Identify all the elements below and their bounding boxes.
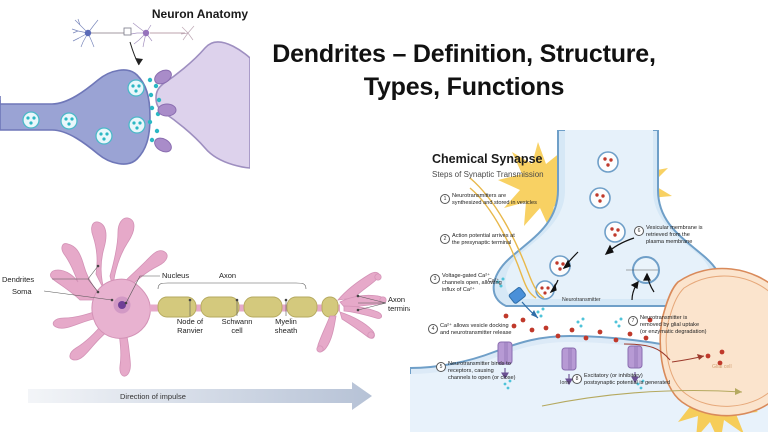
label-direction-of-impulse: Direction of impulse <box>120 392 186 401</box>
neuron-anatomy-svg <box>0 0 410 432</box>
step-text-8: Excitatory (or inhibitory) postsynaptic … <box>584 373 670 387</box>
label-neurotransmitter: Neurotransmitter <box>562 297 601 303</box>
label-soma: Soma <box>12 287 32 296</box>
step-text-4: Ca²⁺ allows vesicle docking and neurotra… <box>440 323 512 337</box>
label-myelin-sheath: Myelin sheath <box>268 317 304 335</box>
step-number-8: 8 <box>572 374 582 384</box>
label-schwann-cell: Schwann cell <box>219 317 255 335</box>
neuron-nucleus <box>118 301 126 309</box>
direction-of-impulse-arrow <box>28 382 372 410</box>
label-nucleus: Nucleus <box>162 271 189 280</box>
label-node-of-ranvier: Node of Ranvier <box>172 317 208 335</box>
step-text-5: Neurotransmitter binds to receptors, cau… <box>448 361 515 383</box>
glial-cell <box>660 269 768 416</box>
step-text-6: Vesicular membrane is retrieved from the… <box>646 225 703 247</box>
step-text-1: Neurotransmitters are synthesized and st… <box>452 193 537 207</box>
chemical-synapse-subtitle: Steps of Synaptic Transmission <box>432 170 544 179</box>
step-number-7: 7 <box>628 316 638 326</box>
step-number-2: 2 <box>440 234 450 244</box>
step-number-5: 5 <box>436 362 446 372</box>
label-glial-cell: Glial cell <box>712 364 732 370</box>
step-number-4: 4 <box>428 324 438 334</box>
step-text-7: Neurotransmitter is removed by glial upt… <box>640 315 707 337</box>
label-dendrites: Dendrites <box>2 275 34 284</box>
step-number-1: 1 <box>440 194 450 204</box>
cleft-ions <box>577 318 623 328</box>
label-calcium: Ca²⁺ <box>488 278 499 284</box>
label-axon: Axon <box>219 271 236 280</box>
myelin-sheath-segments <box>158 297 338 317</box>
step-text-2: Action potential arrives at the presynap… <box>452 233 515 247</box>
step-number-3: 3 <box>430 274 440 284</box>
chemical-synapse-panel: Chemical Synapse Steps of Synaptic Trans… <box>410 130 768 432</box>
screenshot-canvas: Dendrites – Definition, Structure, Types… <box>0 0 768 432</box>
step-number-6: 6 <box>634 226 644 236</box>
label-ions: Ions <box>560 380 570 386</box>
chemical-synapse-title: Chemical Synapse <box>432 152 542 166</box>
